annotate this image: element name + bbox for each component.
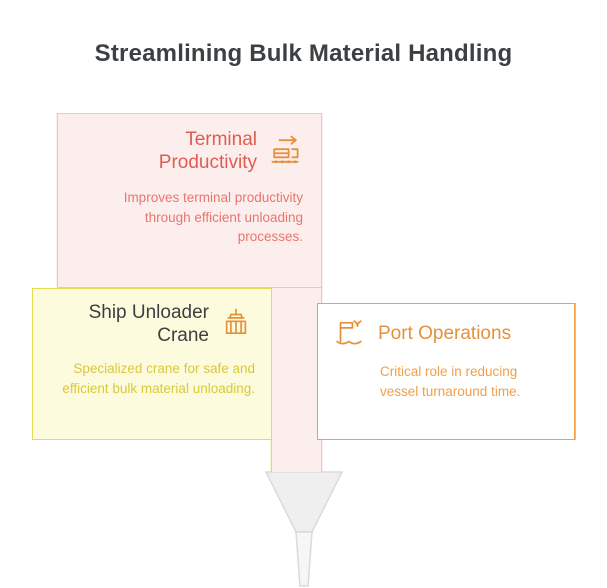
shipping-container-icon bbox=[219, 306, 255, 342]
node-title: Terminal Productivity bbox=[159, 128, 257, 174]
port-crane-ship-icon bbox=[332, 316, 368, 352]
node-title-line2: Productivity bbox=[159, 151, 257, 174]
node-title: Port Operations bbox=[378, 322, 511, 345]
node-header: Port Operations bbox=[318, 304, 574, 352]
node-title-line1: Ship Unloader bbox=[89, 301, 209, 324]
node-port-operations[interactable]: Port Operations Critical role in reducin… bbox=[317, 303, 575, 440]
node-description: Specialized crane for safe and efficient… bbox=[33, 347, 271, 398]
conveyor-belt-arrow-icon bbox=[267, 133, 303, 169]
node-ship-unloader-crane[interactable]: Ship Unloader Crane Specialized crane fo… bbox=[32, 288, 272, 440]
node-title: Ship Unloader Crane bbox=[89, 301, 209, 347]
node-title-line2: Crane bbox=[89, 324, 209, 347]
node-header: Ship Unloader Crane bbox=[33, 289, 271, 347]
node-description: Improves terminal productivity through e… bbox=[58, 174, 321, 247]
node-title-line1: Terminal bbox=[159, 128, 257, 151]
node-title-line1: Port Operations bbox=[378, 322, 511, 345]
diagram-canvas: Streamlining Bulk Material Handling Term… bbox=[0, 0, 607, 588]
node-description: Critical role in reducing vessel turnaro… bbox=[318, 352, 574, 401]
node-header: Terminal Productivity bbox=[58, 114, 321, 174]
node-terminal-productivity[interactable]: Terminal Productivity bbox=[57, 113, 322, 288]
page-title: Streamlining Bulk Material Handling bbox=[0, 40, 607, 68]
